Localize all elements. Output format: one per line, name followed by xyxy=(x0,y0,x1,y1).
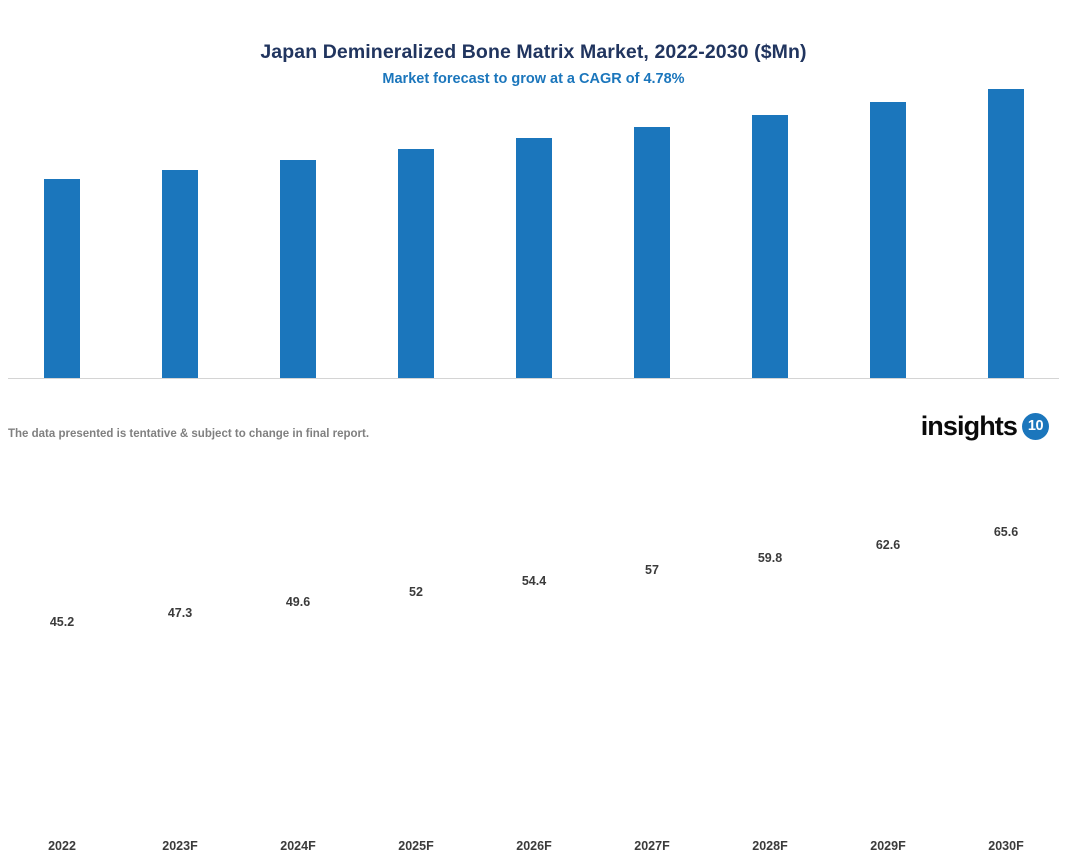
bar[interactable] xyxy=(752,115,788,378)
bar[interactable] xyxy=(44,179,80,378)
x-axis-tick-label: 2027F xyxy=(634,839,669,853)
logo-badge-icon: 10 xyxy=(1022,413,1049,440)
x-axis-tick-label: 2028F xyxy=(752,839,787,853)
bar[interactable] xyxy=(398,149,434,378)
x-axis-tick-label: 2029F xyxy=(870,839,905,853)
bar-value-label: 52 xyxy=(409,585,423,599)
bar[interactable] xyxy=(988,89,1024,378)
bar-value-label: 49.6 xyxy=(286,595,310,609)
bar[interactable] xyxy=(516,138,552,378)
bar[interactable] xyxy=(162,170,198,378)
bar[interactable] xyxy=(870,102,906,378)
x-axis-tick-label: 2023F xyxy=(162,839,197,853)
bar-value-label: 59.8 xyxy=(758,551,782,565)
chart-page: Japan Demineralized Bone Matrix Market, … xyxy=(0,0,1067,454)
bar-value-label: 62.6 xyxy=(876,538,900,552)
x-axis-tick-label: 2024F xyxy=(280,839,315,853)
x-axis-tick-label: 2030F xyxy=(988,839,1023,853)
x-axis-tick-label: 2026F xyxy=(516,839,551,853)
bar-value-label: 45.2 xyxy=(50,615,74,629)
x-axis-tick-label: 2025F xyxy=(398,839,433,853)
bar-value-label: 54.4 xyxy=(522,574,546,588)
bar[interactable] xyxy=(280,160,316,379)
x-axis-line xyxy=(8,378,1059,379)
disclaimer-text: The data presented is tentative & subjec… xyxy=(8,427,369,442)
bar-value-label: 47.3 xyxy=(168,606,192,620)
x-axis-tick-label: 2022 xyxy=(48,839,76,853)
logo-wordmark: insights xyxy=(921,411,1017,441)
insights10-logo: insights 10 xyxy=(921,406,1049,446)
bar[interactable] xyxy=(634,127,670,378)
bar-value-label: 57 xyxy=(645,563,659,577)
bar-value-label: 65.6 xyxy=(994,525,1018,539)
